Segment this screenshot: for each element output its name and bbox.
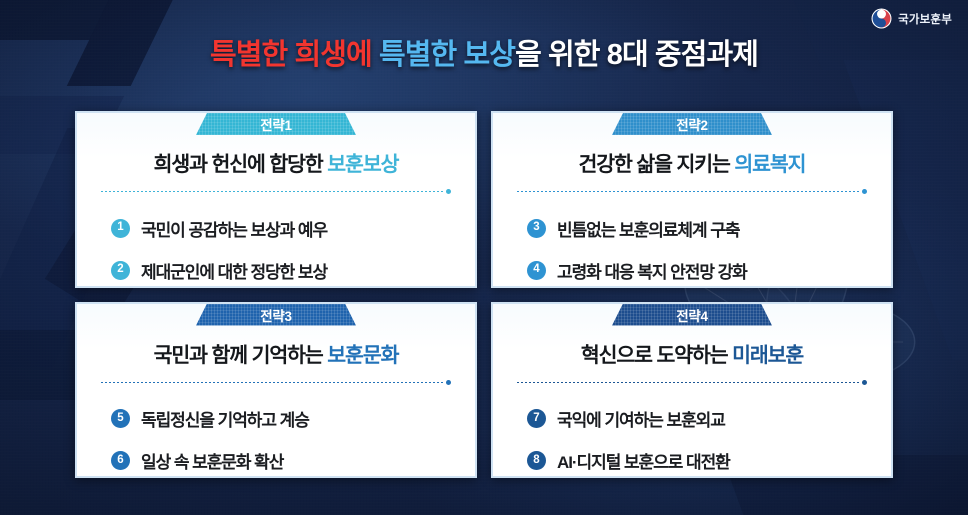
item-label: 국익에 기여하는 보훈외교 [557, 406, 725, 431]
item-label: 고령화 대응 복지 안전망 강화 [557, 258, 747, 283]
divider-line [101, 382, 444, 383]
heading-accent: 보훈보상 [327, 153, 398, 176]
list-item[interactable]: 2 제대군인에 대한 정당한 보상 [111, 249, 475, 288]
list-item[interactable]: 1 국민이 공감하는 보상과 예우 [111, 207, 475, 249]
strategy-card-grid: 전략1 희생과 헌신에 합당한 보훈보상 1 국민이 공감하는 보상과 예우 2… [75, 111, 893, 478]
list-item[interactable]: 5 독립정신을 기억하고 계승 [111, 398, 475, 440]
title-part-blue: 특별한 보상 [379, 39, 515, 71]
item-label: 제대군인에 대한 정당한 보상 [141, 258, 327, 283]
item-number-badge: 5 [111, 409, 130, 428]
divider-dot [446, 189, 451, 194]
task-list-3: 5 독립정신을 기억하고 계승 6 일상 속 보훈문화 확산 [77, 398, 475, 479]
item-number-badge: 7 [527, 409, 546, 428]
strategy-heading-2: 건강한 삶을 지키는 의료복지 [493, 147, 891, 177]
heading-accent: 의료복지 [734, 153, 805, 176]
strategy-heading-3: 국민과 함께 기억하는 보훈문화 [77, 338, 475, 368]
item-label: 국민이 공감하는 보상과 예우 [141, 216, 327, 241]
strategy-card-1[interactable]: 전략1 희생과 헌신에 합당한 보훈보상 1 국민이 공감하는 보상과 예우 2… [75, 111, 477, 288]
task-list-4: 7 국익에 기여하는 보훈외교 8 AI·디지털 보훈으로 대전환 [493, 398, 891, 479]
divider-line [101, 191, 444, 192]
item-number-badge: 3 [527, 219, 546, 238]
strategy-card-3[interactable]: 전략3 국민과 함께 기억하는 보훈문화 5 독립정신을 기억하고 계승 6 일… [75, 302, 477, 479]
item-number-badge: 2 [111, 261, 130, 280]
list-item[interactable]: 3 빈틈없는 보훈의료체계 구축 [527, 207, 891, 249]
item-label: 독립정신을 기억하고 계승 [141, 406, 309, 431]
item-label: 일상 속 보훈문화 확산 [141, 448, 283, 473]
list-item[interactable]: 8 AI·디지털 보훈으로 대전환 [527, 440, 891, 479]
divider-4 [517, 381, 867, 384]
divider-dot [862, 380, 867, 385]
strategy-heading-4: 혁신으로 도약하는 미래보훈 [493, 338, 891, 368]
divider-line [517, 191, 860, 192]
ministry-logo-label: 국가보훈부 [898, 11, 952, 27]
list-item[interactable]: 4 고령화 대응 복지 안전망 강화 [527, 249, 891, 288]
item-number-badge: 8 [527, 451, 546, 470]
heading-accent: 보훈문화 [327, 344, 398, 367]
ministry-logo: 국가보훈부 [871, 8, 952, 29]
strategy-card-4[interactable]: 전략4 혁신으로 도약하는 미래보훈 7 국익에 기여하는 보훈외교 8 AI·… [491, 302, 893, 479]
divider-dot [446, 380, 451, 385]
item-label: AI·디지털 보훈으로 대전환 [557, 448, 730, 473]
task-list-1: 1 국민이 공감하는 보상과 예우 2 제대군인에 대한 정당한 보상 [77, 207, 475, 288]
strategy-card-2[interactable]: 전략2 건강한 삶을 지키는 의료복지 3 빈틈없는 보훈의료체계 구축 4 고… [491, 111, 893, 288]
strategy-badge-3: 전략3 [196, 304, 356, 326]
page-title: 특별한 희생에 특별한 보상을 위한 8대 중점과제 [0, 31, 968, 73]
item-number-badge: 4 [527, 261, 546, 280]
heading-accent: 미래보훈 [732, 344, 803, 367]
heading-plain: 국민과 함께 기억하는 [154, 344, 328, 367]
task-list-2: 3 빈틈없는 보훈의료체계 구축 4 고령화 대응 복지 안전망 강화 [493, 207, 891, 288]
divider-1 [101, 190, 451, 193]
strategy-badge-1: 전략1 [196, 113, 356, 135]
strategy-badge-2: 전략2 [612, 113, 772, 135]
list-item[interactable]: 7 국익에 기여하는 보훈외교 [527, 398, 891, 440]
strategy-badge-4: 전략4 [612, 304, 772, 326]
title-part-red: 특별한 희생에 [210, 39, 372, 71]
item-number-badge: 6 [111, 451, 130, 470]
list-item[interactable]: 6 일상 속 보훈문화 확산 [111, 440, 475, 479]
item-label: 빈틈없는 보훈의료체계 구축 [557, 216, 739, 241]
divider-3 [101, 381, 451, 384]
title-part-white: 을 위한 8대 중점과제 [515, 39, 758, 71]
divider-line [517, 382, 860, 383]
heading-plain: 혁신으로 도약하는 [581, 344, 732, 367]
heading-plain: 건강한 삶을 지키는 [579, 153, 735, 176]
taegeuk-icon [871, 8, 892, 29]
divider-2 [517, 190, 867, 193]
strategy-heading-1: 희생과 헌신에 합당한 보훈보상 [77, 147, 475, 177]
item-number-badge: 1 [111, 219, 130, 238]
divider-dot [862, 189, 867, 194]
heading-plain: 희생과 헌신에 합당한 [154, 153, 328, 176]
